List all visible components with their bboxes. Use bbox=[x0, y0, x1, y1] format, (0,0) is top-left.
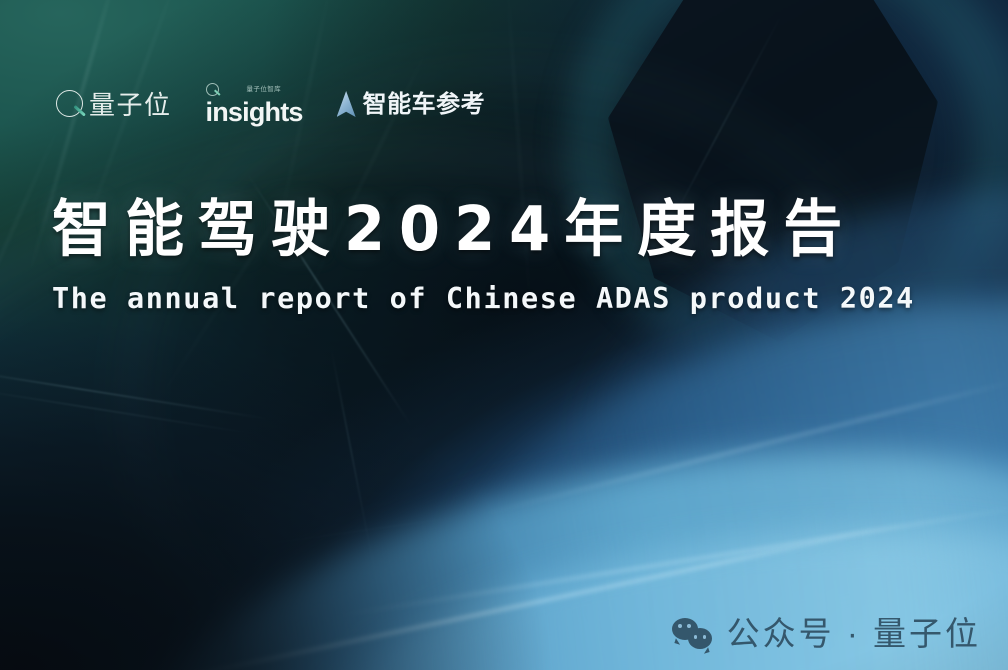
logo-smart-car-label: 智能车参考 bbox=[363, 92, 486, 118]
insights-badge: 量子位智库 bbox=[206, 83, 282, 96]
logo-row: 量子位 量子位智库 insights 智能车参考 bbox=[56, 83, 485, 126]
cover-content: 量子位 量子位智库 insights 智能车参考 智能驾驶2024年度报告 Th… bbox=[0, 0, 1008, 670]
watermark-label: 公众号 · 量子位 bbox=[727, 615, 981, 653]
report-cover: 量子位 量子位智库 insights 智能车参考 智能驾驶2024年度报告 Th… bbox=[0, 0, 1008, 670]
watermark: 公众号 · 量子位 bbox=[672, 615, 981, 653]
q-circle-small-icon bbox=[206, 83, 219, 96]
logo-insights-label: insights bbox=[206, 97, 303, 127]
title-block: 智能驾驶2024年度报告 The annual report of Chines… bbox=[52, 193, 915, 317]
logo-smart-car-reference[interactable]: 智能车参考 bbox=[337, 91, 486, 118]
insights-badge-label: 量子位智库 bbox=[247, 83, 282, 96]
page-subtitle: The annual report of Chinese ADAS produc… bbox=[52, 281, 915, 317]
logo-qbitai[interactable]: 量子位 bbox=[56, 90, 172, 119]
logo-qbitai-insights[interactable]: 量子位智库 insights bbox=[206, 83, 303, 126]
page-title: 智能驾驶2024年度报告 bbox=[52, 193, 915, 266]
navigation-arrow-icon bbox=[337, 91, 356, 117]
wechat-icon bbox=[672, 618, 714, 650]
logo-qbitai-label: 量子位 bbox=[89, 92, 172, 119]
q-circle-needle-icon bbox=[56, 90, 83, 117]
